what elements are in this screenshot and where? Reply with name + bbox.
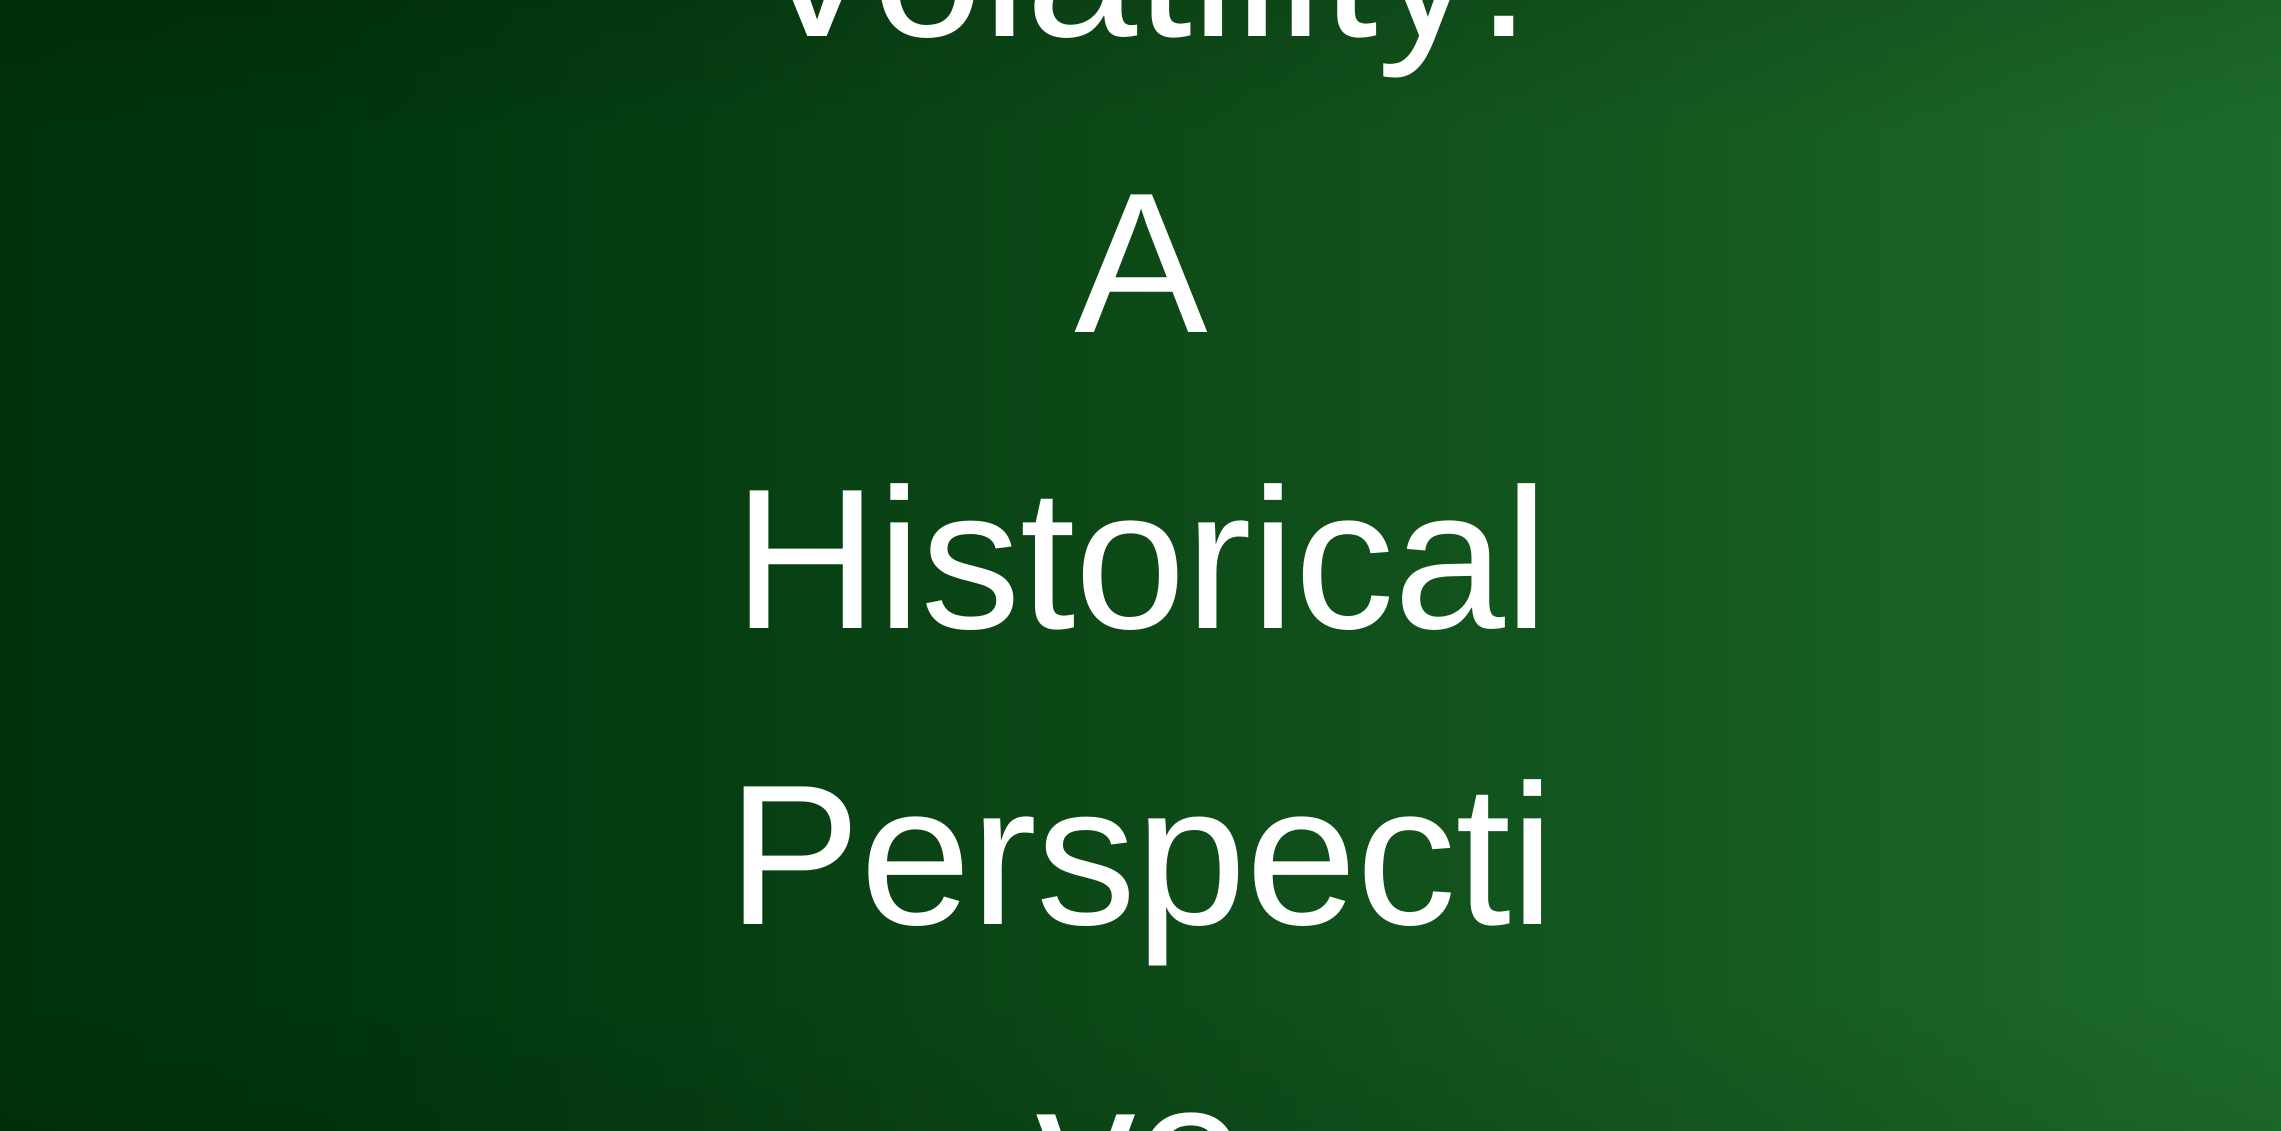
title-block: Volatility: A Historical Perspective [0,0,2281,1131]
slide-canvas: Volatility: A Historical Perspective [0,0,2281,1131]
slide-title: Volatility: A Historical Perspective [691,0,1591,1131]
